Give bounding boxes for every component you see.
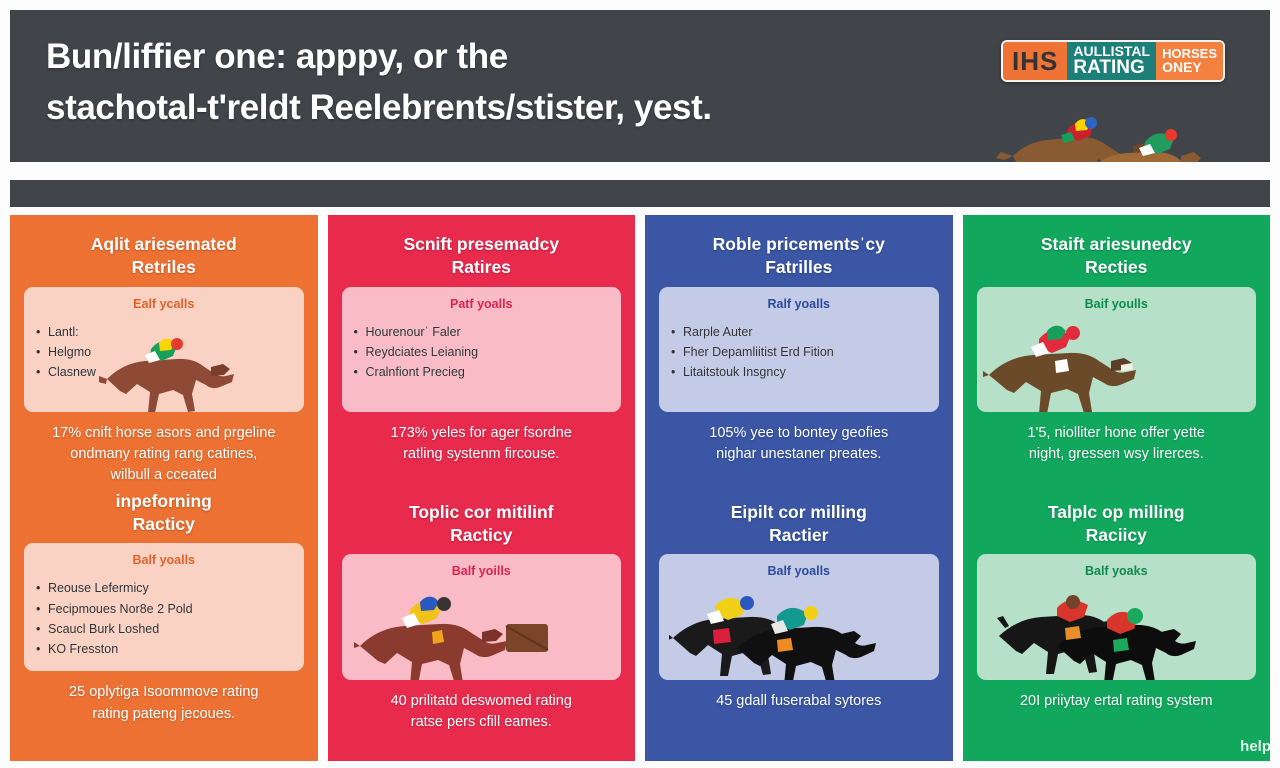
note-line-3: wilbull a cceated: [24, 465, 304, 486]
bullet-list: Hourenourˈ Faler Reydciates Leianing Cra…: [354, 322, 610, 383]
column-orange: Aqlit ariesemated Retriles Ealf ycalls L…: [10, 215, 318, 761]
section-title-line-2: Retriles: [24, 256, 304, 279]
section-title-line-2: Racticy: [342, 524, 622, 547]
section-title-line-1: Scnift presemadcy: [342, 233, 622, 256]
card-title: Balf yoalls: [36, 553, 292, 567]
card-title: Balf yoalls: [671, 564, 927, 578]
logo-badge-text: IHS: [1003, 42, 1067, 80]
column-red-block-1: Scnift presemadcy Ratires Patf yoalls Ho…: [342, 233, 622, 465]
section-title-line-1: Roble pricementsˈcy: [659, 233, 939, 256]
note-text: 1'5, niolliter hone offer yette night, g…: [977, 423, 1257, 465]
note-text: 20I priiytay ertal rating system: [977, 691, 1257, 712]
section-title-line-1: Talplc op milling: [977, 501, 1257, 524]
column-orange-block-1: Aqlit ariesemated Retriles Ealf ycalls L…: [24, 233, 304, 486]
info-card: Ralf yoalls Rarple Auter Fher Depamliiti…: [659, 287, 939, 412]
column-red-block-2: Toplic cor mitilinf Racticy Balf yoills: [342, 501, 622, 734]
logo-right-line-2: ONEY: [1162, 61, 1217, 74]
page-title-line-1: Bun/liffier one: apppy, or the: [46, 32, 866, 83]
horse-jockey-gate-art: [354, 588, 569, 680]
note-line-1: 1'5, niolliter hone offer yette: [977, 423, 1257, 444]
list-item: Reouse Lefermicy: [36, 578, 292, 598]
note-line-2: ratse pers cfill eames.: [342, 712, 622, 733]
note-line-2: rating pateng jecoues.: [24, 704, 304, 725]
info-card: Patf yoalls Hourenourˈ Faler Reydciates …: [342, 287, 622, 412]
bullet-list: Rarple Auter Fher Depamliitist Erd Fitio…: [671, 322, 927, 383]
logo-right-segment: HORSES ONEY: [1156, 42, 1223, 80]
note-line-1: 40 prilitatd deswomed rating: [342, 691, 622, 712]
note-text: 45 gdall fuserabal sytores: [659, 691, 939, 712]
section-title: Staift ariesunedcy Recties: [977, 233, 1257, 279]
divider-bar: [10, 180, 1270, 207]
bullet-list: Lantl: Helgmo Clasnew: [36, 322, 292, 383]
section-title-line-2: Raciicy: [977, 524, 1257, 547]
column-green-block-1: Staift ariesunedcy Recties Baif youlls: [977, 233, 1257, 465]
header-banner: Bun/liffier one: apppy, or the stachotal…: [10, 10, 1270, 162]
help-label[interactable]: help:: [1240, 738, 1270, 755]
column-green-block-2: Talplc op milling Raciicy Balf yoaks: [977, 501, 1257, 713]
list-item: Lantl:: [36, 322, 292, 342]
bullet-list: Reouse Lefermicy Fecipmoues Nor8e 2 Pold…: [36, 578, 292, 659]
note-line-1: 17% cnift horse asors and prgeline: [24, 423, 304, 444]
section-title-line-1: Staift ariesunedcy: [977, 233, 1257, 256]
card-title: Ealf ycalls: [36, 297, 292, 311]
list-item: Litaitstouk Insgncy: [671, 362, 927, 382]
info-card: Baif youlls: [977, 287, 1257, 412]
list-item-continuation: KO Fresston: [36, 639, 292, 659]
column-blue-block-2: Eipilt cor milling Ractier Balf yoalls: [659, 501, 939, 713]
section-title-line-2: Fatrilles: [659, 256, 939, 279]
note-line-2: ratling systenm fircouse.: [342, 444, 622, 465]
section-title: Eipilt cor milling Ractier: [659, 501, 939, 547]
info-card: Ealf ycalls Lantl: Helgmo Clasnew: [24, 287, 304, 412]
section-title: Scnift presemadcy Ratires: [342, 233, 622, 279]
section-title-line-2: Racticy: [24, 513, 304, 536]
info-card: Balf yoaks: [977, 554, 1257, 680]
info-card: Balf yoalls Reouse Lefermicy Fecipmoues …: [24, 543, 304, 671]
section-title: Roble pricementsˈcy Fatrilles: [659, 233, 939, 279]
brown-horse-jockey-art: [983, 317, 1198, 412]
infographic-page: Bun/liffier one: apppy, or the stachotal…: [0, 0, 1280, 768]
section-title-line-2: Ractier: [659, 524, 939, 547]
section-title: Talplc op milling Raciicy: [977, 501, 1257, 547]
note-line-2: nighar unestaner preates.: [659, 444, 939, 465]
section-title-line-1: Eipilt cor milling: [659, 501, 939, 524]
note-line-1: 20I priiytay ertal rating system: [977, 691, 1257, 712]
column-green: Staift ariesunedcy Recties Baif youlls: [963, 215, 1271, 761]
card-title: Balf yoaks: [989, 564, 1245, 578]
list-item: Cralnfiont Precieg: [354, 362, 610, 382]
list-item: Fher Depamliitist Erd Fition: [671, 342, 927, 362]
note-text: 25 oplytiga Isoommove rating rating pate…: [24, 682, 304, 724]
card-title: Ralf yoalls: [671, 297, 927, 311]
note-line-2: night, gressen wsy lirerces.: [977, 444, 1257, 465]
list-item: Fecipmoues Nor8e 2 Pold: [36, 599, 292, 619]
page-title: Bun/liffier one: apppy, or the stachotal…: [46, 32, 866, 134]
racing-horses-icon: [995, 90, 1215, 162]
note-line-1: 25 oplytiga Isoommove rating: [24, 682, 304, 703]
info-card: Balf yoills: [342, 554, 622, 680]
page-title-line-2: stachotal-t'reldt Reelebrents/stister, y…: [46, 83, 866, 134]
section-title-line-2: Recties: [977, 256, 1257, 279]
list-item: Rarple Auter: [671, 322, 927, 342]
section-title-line-1: Toplic cor mitilinf: [342, 501, 622, 524]
brand-logo[interactable]: IHS AULLISTAL RATING HORSES ONEY: [1001, 40, 1225, 82]
card-title: Balf yoills: [354, 564, 610, 578]
section-title-line-1: inpeforning: [24, 490, 304, 513]
two-black-horses-art: [669, 582, 889, 680]
section-title-line-2: Ratires: [342, 256, 622, 279]
note-text: 40 prilitatd deswomed rating ratse pers …: [342, 691, 622, 733]
logo-mid-line-2: RATING: [1073, 59, 1150, 77]
note-line-1: 45 gdall fuserabal sytores: [659, 691, 939, 712]
column-blue-block-1: Roble pricementsˈcy Fatrilles Ralf yoall…: [659, 233, 939, 465]
list-item: Reydciates Leianing: [354, 342, 610, 362]
columns-container: Aqlit ariesemated Retriles Ealf ycalls L…: [10, 215, 1270, 761]
note-text: 173% yeles for ager fsordne ratling syst…: [342, 423, 622, 465]
note-text: 17% cnift horse asors and prgeline ondma…: [24, 423, 304, 486]
column-blue: Roble pricementsˈcy Fatrilles Ralf yoall…: [645, 215, 953, 761]
section-title-line-1: Aqlit ariesemated: [24, 233, 304, 256]
note-line-2: ondmany rating rang catines,: [24, 444, 304, 465]
card-title: Patf yoalls: [354, 297, 610, 311]
list-item: Hourenourˈ Faler: [354, 322, 610, 342]
list-item: Clasnew: [36, 362, 292, 382]
column-red: Scnift presemadcy Ratires Patf yoalls Ho…: [328, 215, 636, 761]
note-text: 105% yee to bontey geofies nighar unesta…: [659, 423, 939, 465]
note-line-1: 105% yee to bontey geofies: [659, 423, 939, 444]
list-item: Scaucl Burk Loshed: [36, 619, 292, 639]
section-title: Toplic cor mitilinf Racticy: [342, 501, 622, 547]
card-title: Baif youlls: [989, 297, 1245, 311]
column-orange-block-2: inpeforning Racticy Balf yoalls Reouse L…: [24, 490, 304, 725]
info-card: Balf yoalls: [659, 554, 939, 680]
logo-middle-segment: AULLISTAL RATING: [1067, 42, 1156, 80]
two-dark-horses-art: [995, 584, 1205, 680]
section-title: inpeforning Racticy: [24, 490, 304, 536]
note-line-1: 173% yeles for ager fsordne: [342, 423, 622, 444]
section-title: Aqlit ariesemated Retriles: [24, 233, 304, 279]
list-item: Helgmo: [36, 342, 292, 362]
